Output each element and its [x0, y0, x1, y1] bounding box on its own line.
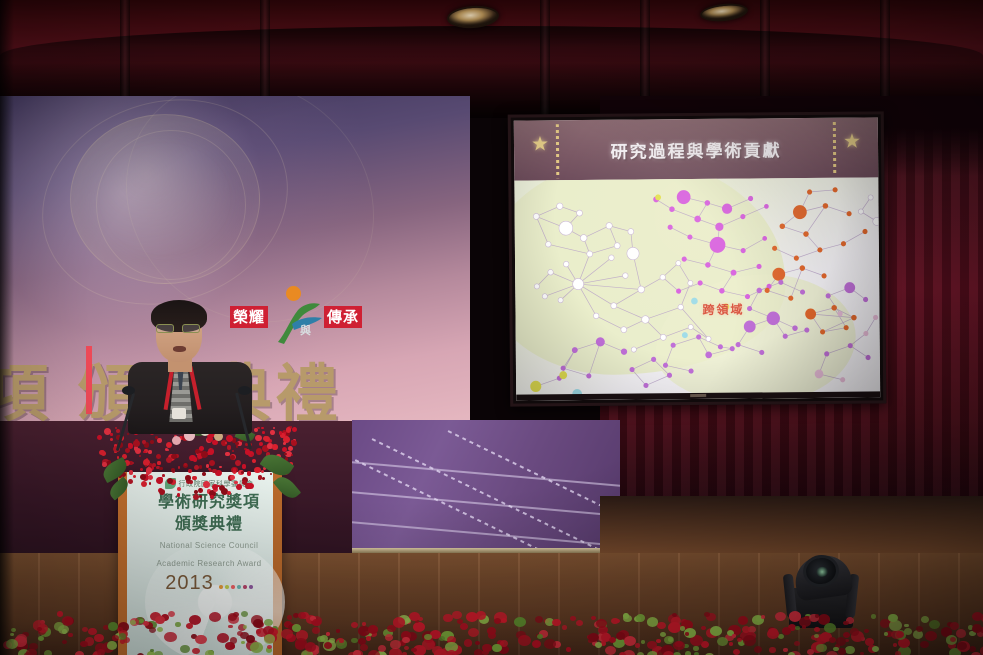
flower-petal — [167, 478, 173, 484]
flower-bloom — [88, 628, 97, 635]
flower-bloom — [468, 628, 479, 637]
logo-text-mid: 與 — [300, 322, 311, 338]
flower-petal — [133, 440, 140, 447]
flower-bloom — [814, 627, 820, 632]
flower-bloom — [795, 626, 799, 630]
flower-bloom — [701, 626, 706, 630]
flower-petal — [236, 484, 242, 490]
flower-petal — [225, 452, 229, 456]
flower-petal — [199, 488, 201, 490]
flower-petal — [203, 481, 210, 488]
flower-petal — [261, 427, 263, 429]
flower-bloom — [552, 619, 561, 627]
flower-petal — [286, 427, 292, 433]
flower-bloom — [807, 649, 814, 655]
flower-bloom — [566, 647, 572, 652]
flower-bloom — [264, 634, 275, 644]
flower-petal — [270, 430, 275, 435]
flower-petal — [242, 464, 247, 469]
network-diagram: 跨領域 — [514, 177, 880, 400]
purple-stage-panel — [352, 420, 620, 555]
flower-bloom — [351, 638, 358, 644]
flower-bloom — [826, 651, 839, 655]
flower-bloom — [378, 645, 386, 652]
flower-petal — [194, 465, 199, 470]
stage-scene: ★ 研究過程與學術貢獻 ★ — [0, 0, 983, 655]
flower-bloom — [518, 635, 531, 646]
flower-petal — [110, 438, 113, 441]
flower-petal — [177, 487, 181, 491]
flower-petal — [232, 450, 234, 452]
flower-petal — [162, 474, 165, 477]
flower-petal — [255, 435, 262, 442]
flower-petal — [127, 433, 129, 435]
flower-bloom — [799, 617, 811, 627]
flower-bloom — [26, 649, 36, 655]
flower-petal — [199, 465, 203, 469]
flower-bloom — [656, 639, 660, 643]
flower-petal — [288, 446, 293, 451]
flower-bloom — [368, 625, 378, 634]
speaker-mouth — [173, 346, 186, 352]
flower-petal — [209, 460, 215, 466]
flower-petal — [208, 468, 210, 470]
flower-petal — [227, 445, 232, 450]
flower-bloom — [143, 621, 149, 626]
flower-bloom — [685, 651, 691, 655]
color-dot — [249, 585, 253, 589]
flower-bloom — [107, 641, 117, 649]
flower-petal — [128, 479, 133, 484]
flower-bloom — [82, 627, 88, 632]
flower-bloom — [896, 631, 905, 638]
flower-bloom — [195, 635, 206, 645]
flower-bloom — [782, 627, 791, 635]
flower-bloom — [889, 620, 902, 631]
flower-bloom — [464, 639, 473, 646]
flower-petal — [178, 466, 180, 468]
flower-bloom — [729, 642, 733, 646]
flower-petal — [283, 442, 286, 445]
flower-bloom — [535, 616, 543, 623]
flower-petal — [157, 461, 161, 465]
curtain-fold — [540, 0, 550, 118]
flower-petal — [292, 427, 297, 432]
flower-bloom — [609, 637, 616, 643]
flower-bloom — [836, 637, 846, 646]
flower-petal — [159, 489, 165, 495]
flower-bloom — [180, 645, 190, 654]
flower-bloom — [833, 647, 838, 652]
panel-line — [352, 486, 620, 525]
flower-bloom — [920, 641, 929, 648]
flower-bloom — [243, 625, 247, 629]
flower-petal — [150, 440, 154, 444]
flower-petal — [139, 455, 141, 457]
flower-bloom — [94, 634, 104, 642]
flower-bloom — [675, 641, 683, 648]
flower-bloom — [663, 651, 674, 655]
podium-title-zh-2: 頒獎典禮 — [141, 514, 277, 533]
flower-bloom — [157, 627, 163, 632]
flower-bloom — [664, 636, 674, 644]
microphone-head — [122, 386, 135, 395]
flower-petal — [235, 442, 238, 445]
flower-petal — [212, 469, 216, 473]
flower-bloom — [413, 622, 425, 632]
flower-bloom — [591, 616, 596, 620]
flower-bloom — [267, 645, 272, 649]
flower-petal — [143, 451, 145, 453]
flower-bloom — [411, 648, 416, 652]
flower-petal — [247, 471, 251, 475]
flower-petal — [148, 450, 151, 453]
flower-bloom — [175, 622, 180, 627]
flower-bloom — [636, 614, 645, 622]
flower-petal — [110, 433, 112, 435]
flower-bloom — [62, 640, 67, 644]
flower-bloom — [54, 622, 64, 630]
ceiling-spotlight-icon — [699, 2, 749, 24]
flower-petal — [227, 491, 231, 495]
flower-bloom — [320, 635, 328, 642]
flower-petal — [226, 435, 233, 442]
flower-bloom — [336, 629, 340, 633]
flower-bloom — [872, 646, 879, 652]
flower-bloom — [769, 647, 775, 652]
flower-bloom — [733, 649, 740, 655]
flower-bloom — [246, 635, 255, 643]
flower-bloom — [164, 632, 176, 642]
flower-bloom — [228, 613, 237, 621]
flower-bloom — [97, 649, 105, 655]
flower-bloom — [717, 637, 728, 646]
flower-bloom — [893, 643, 897, 647]
flower-petal — [210, 495, 214, 499]
flower-bloom — [150, 649, 154, 653]
flower-bloom — [570, 616, 576, 621]
flower-bloom — [209, 612, 222, 623]
flower-bloom — [360, 644, 368, 651]
flower-bloom — [544, 639, 556, 649]
flower-petal — [167, 449, 169, 451]
color-dot — [225, 585, 229, 589]
flower-bloom — [743, 635, 756, 646]
flower-bloom — [514, 617, 526, 627]
flower-petal — [156, 454, 162, 460]
flower-bloom — [732, 634, 737, 638]
flower-bloom — [494, 618, 501, 624]
flower-petal — [201, 451, 208, 458]
flower-bloom — [595, 642, 602, 648]
flower-bloom — [487, 627, 496, 635]
flower-petal — [199, 495, 202, 498]
flower-bloom — [68, 633, 72, 637]
flower-bloom — [253, 619, 263, 627]
flower-bloom — [312, 619, 321, 627]
flower-petal — [149, 482, 152, 485]
slide-title: 研究過程與學術貢獻 — [610, 136, 781, 162]
flower-bloom — [155, 616, 165, 624]
flower-petal — [219, 466, 221, 468]
flower-petal — [171, 454, 177, 460]
flower-petal — [156, 477, 163, 484]
flower-petal — [133, 475, 136, 478]
flower-bloom — [576, 620, 583, 626]
flower-bloom — [168, 611, 175, 617]
flower-bloom — [816, 644, 826, 653]
network-cluster-label: 跨領域 — [702, 301, 744, 318]
flower-bloom — [956, 629, 966, 638]
flower-petal — [177, 493, 180, 496]
flower-bloom — [824, 623, 836, 633]
flower-bloom — [404, 646, 409, 651]
flower-bloom — [704, 612, 710, 617]
flower-bloom — [972, 624, 982, 633]
flower-petal — [261, 470, 264, 473]
flower-petal — [146, 467, 153, 474]
flower-bloom — [657, 622, 665, 629]
flower-bloom — [230, 637, 238, 643]
flower-bloom — [761, 615, 765, 618]
stage-floor-shadow — [600, 496, 983, 558]
flower-bloom — [501, 618, 508, 624]
flower-bloom — [775, 612, 786, 621]
flower-bloom — [929, 620, 940, 629]
flower-bloom — [228, 625, 232, 629]
flower-petal — [159, 467, 163, 471]
flower-bloom — [888, 614, 897, 622]
flower-bloom — [904, 624, 908, 628]
speaker-badge — [172, 408, 186, 419]
flower-bloom — [895, 651, 901, 655]
flower-bloom — [390, 640, 400, 649]
flower-petal — [252, 459, 257, 464]
flower-petal — [254, 467, 261, 474]
flower-petal — [284, 453, 287, 456]
flower-bloom — [402, 637, 410, 644]
panel-line — [352, 456, 620, 495]
flower-petal — [188, 469, 192, 473]
flower-bloom — [120, 639, 125, 643]
star-icon: ★ — [842, 132, 862, 152]
flower-petal — [230, 475, 235, 480]
flower-bloom — [476, 611, 486, 620]
flower-bloom — [443, 614, 453, 622]
flower-petal — [140, 474, 146, 480]
flower-bloom — [562, 625, 567, 629]
flower-petal — [235, 460, 241, 466]
flower-petal — [193, 457, 198, 462]
flower-bloom — [130, 620, 136, 625]
flower-petal — [206, 464, 209, 467]
color-dot — [231, 585, 235, 589]
flower-bloom — [623, 615, 632, 623]
flower-bloom — [588, 633, 599, 643]
flower-petal — [272, 444, 277, 449]
flower-bloom — [843, 621, 849, 626]
flower-petal — [192, 476, 196, 480]
flower-bloom — [738, 616, 748, 625]
flower-petal — [185, 475, 190, 480]
running-figure-icon — [272, 298, 324, 346]
flower-petal — [129, 470, 134, 475]
flower-bloom — [324, 642, 332, 649]
flower-petal — [247, 483, 254, 490]
podium-title-en-2: Academic Research Award — [141, 558, 277, 569]
flower-petal — [125, 448, 130, 453]
flower-bloom — [693, 646, 698, 650]
title-separator-bar — [86, 346, 92, 414]
flower-petal — [157, 438, 162, 443]
flower-bloom — [737, 638, 742, 642]
flower-bloom — [641, 640, 645, 644]
flower-petal — [202, 472, 206, 476]
flower-bloom — [710, 626, 722, 636]
flower-bloom — [154, 651, 162, 655]
color-dot — [219, 585, 223, 589]
screen-logo: . — [690, 394, 706, 397]
flower-bloom — [788, 652, 795, 655]
flower-bloom — [192, 648, 200, 655]
flower-bloom — [537, 634, 543, 639]
flower-bloom — [950, 637, 956, 642]
flower-bloom — [447, 650, 456, 655]
flower-bloom — [230, 644, 235, 649]
podium-year-row: 2013 — [141, 572, 277, 595]
flower-bloom — [287, 615, 293, 620]
network-graph-svg — [514, 177, 880, 400]
flower-petal — [141, 481, 147, 487]
flower-bloom — [605, 646, 616, 655]
flower-bloom — [339, 639, 344, 643]
star-icon: ★ — [530, 134, 550, 154]
flower-bloom — [783, 648, 787, 652]
flower-petal — [262, 431, 265, 434]
flower-bloom — [351, 622, 358, 628]
flower-petal — [97, 435, 102, 440]
flower-bloom — [864, 629, 869, 633]
flower-bloom — [482, 644, 492, 653]
flower-petal — [256, 448, 262, 454]
flower-petal — [262, 477, 265, 480]
color-dot — [237, 585, 241, 589]
flower-petal — [291, 454, 293, 456]
flower-bloom — [57, 611, 63, 616]
flower-bloom — [754, 646, 762, 653]
flower-petal — [99, 450, 105, 456]
flower-bloom — [172, 436, 181, 445]
flower-bloom — [241, 611, 248, 617]
flower-bloom — [241, 641, 245, 644]
flower-bloom — [368, 650, 380, 655]
flower-bloom — [500, 640, 508, 647]
flower-petal — [233, 468, 237, 472]
podium-year: 2013 — [165, 572, 214, 595]
flower-bloom — [250, 642, 263, 653]
front-stage-flowers — [0, 609, 983, 655]
flower-bloom — [635, 643, 640, 648]
projection-screen[interactable]: ★ 研究過程與學術貢獻 ★ — [508, 111, 887, 406]
flower-bloom — [460, 623, 468, 630]
flower-bloom — [615, 619, 620, 623]
dotted-divider — [833, 122, 836, 176]
flower-bloom — [475, 641, 480, 645]
flower-petal — [148, 475, 153, 480]
left-edge-shadow — [0, 0, 14, 655]
flower-bloom — [532, 640, 541, 648]
flower-bloom — [80, 641, 87, 647]
flower-bloom — [186, 623, 193, 629]
flower-bloom — [362, 622, 366, 626]
speaker-person — [120, 300, 260, 430]
flower-bloom — [353, 650, 361, 655]
logo-text-right: 傳承 — [324, 306, 362, 328]
flower-bloom — [366, 636, 372, 641]
flower-bloom — [75, 651, 85, 655]
flower-bloom — [44, 650, 52, 655]
flower-bloom — [921, 616, 929, 623]
flower-bloom — [838, 648, 846, 654]
flower-petal — [140, 468, 143, 471]
flower-bloom — [112, 635, 118, 641]
flower-petal — [236, 445, 238, 447]
flower-bloom — [925, 631, 937, 641]
flower-petal — [194, 490, 198, 494]
presentation-slide: ★ 研究過程與學術貢獻 ★ — [514, 117, 880, 400]
flower-bloom — [312, 627, 320, 634]
flower-bloom — [596, 619, 607, 628]
slide-header: ★ 研究過程與學術貢獻 ★ — [514, 117, 879, 180]
flower-bloom — [119, 633, 127, 639]
podium-color-dots — [219, 585, 253, 589]
flower-bloom — [281, 629, 292, 639]
flower-bloom — [149, 627, 156, 633]
flower-bloom — [884, 632, 888, 636]
flower-bloom — [845, 646, 855, 655]
flower-petal — [258, 475, 262, 479]
flower-bloom — [387, 625, 396, 633]
podium-title-en-1: National Science Council — [141, 540, 277, 551]
flower-petal — [241, 471, 245, 475]
flower-bloom — [742, 626, 750, 633]
dotted-divider — [556, 124, 559, 178]
flower-bloom — [871, 614, 876, 618]
microphone-head — [238, 386, 251, 395]
flower-petal — [270, 473, 272, 475]
flower-bloom — [829, 637, 837, 643]
color-dot — [243, 585, 247, 589]
flower-bloom — [205, 650, 215, 655]
flower-bloom — [794, 641, 801, 647]
flower-petal — [155, 436, 158, 439]
flower-bloom — [389, 648, 402, 655]
glasses-icon — [156, 324, 202, 333]
